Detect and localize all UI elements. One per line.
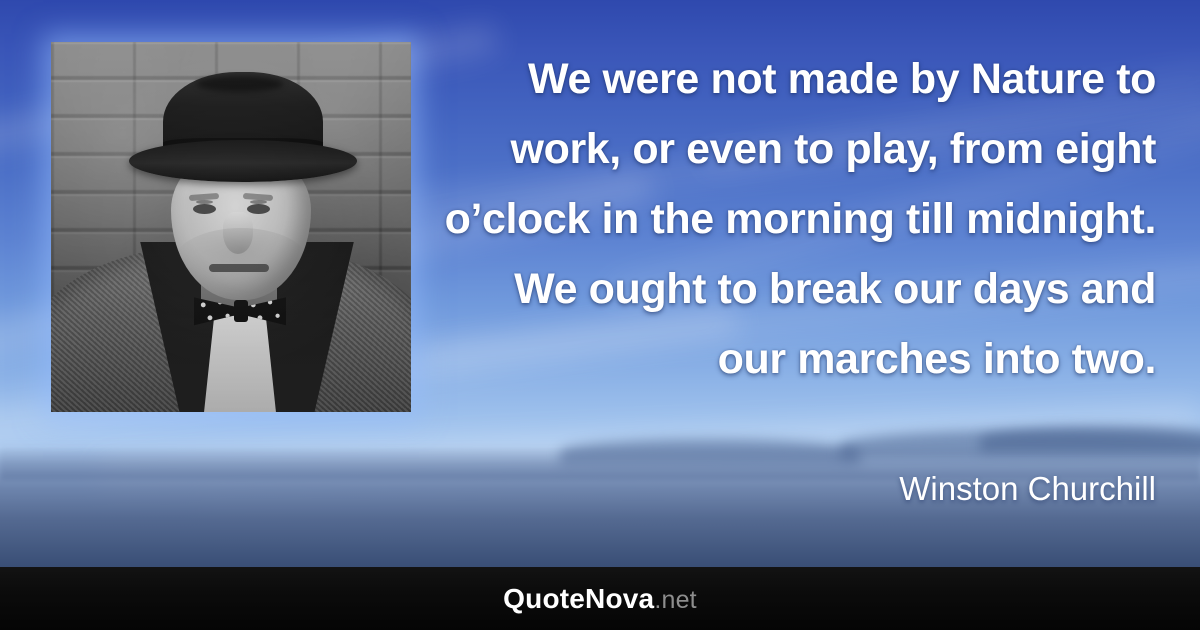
quote-card: We were not made by Nature to work, or e… [0, 0, 1200, 630]
brand-name: QuoteNova [503, 583, 654, 614]
bow-tie [194, 294, 286, 328]
eye-right [247, 204, 270, 214]
nose [223, 212, 253, 254]
quote-text: We were not made by Nature to work, or e… [440, 44, 1156, 394]
eye-left [193, 204, 216, 214]
site-footer: QuoteNova.net [0, 567, 1200, 630]
quote-line: We were not made by Nature to [440, 44, 1156, 114]
author-portrait [51, 42, 411, 412]
bow-tie-right-wing [244, 294, 286, 328]
quote-author: Winston Churchill [440, 470, 1156, 508]
homburg-hat-crease [197, 76, 283, 92]
portrait-photo [51, 42, 411, 412]
site-brand[interactable]: QuoteNova.net [503, 583, 697, 615]
bow-tie-left-wing [194, 294, 236, 328]
mouth [209, 264, 269, 272]
quote-line: We ought to break our days and [440, 254, 1156, 324]
quote-line: o’clock in the morning till midnight. [440, 184, 1156, 254]
homburg-hat-brim [129, 140, 357, 182]
quote-line: work, or even to play, from eight [440, 114, 1156, 184]
brand-tld: .net [654, 586, 697, 614]
quote-line: our marches into two. [440, 324, 1156, 394]
churchill-figure [51, 42, 411, 412]
